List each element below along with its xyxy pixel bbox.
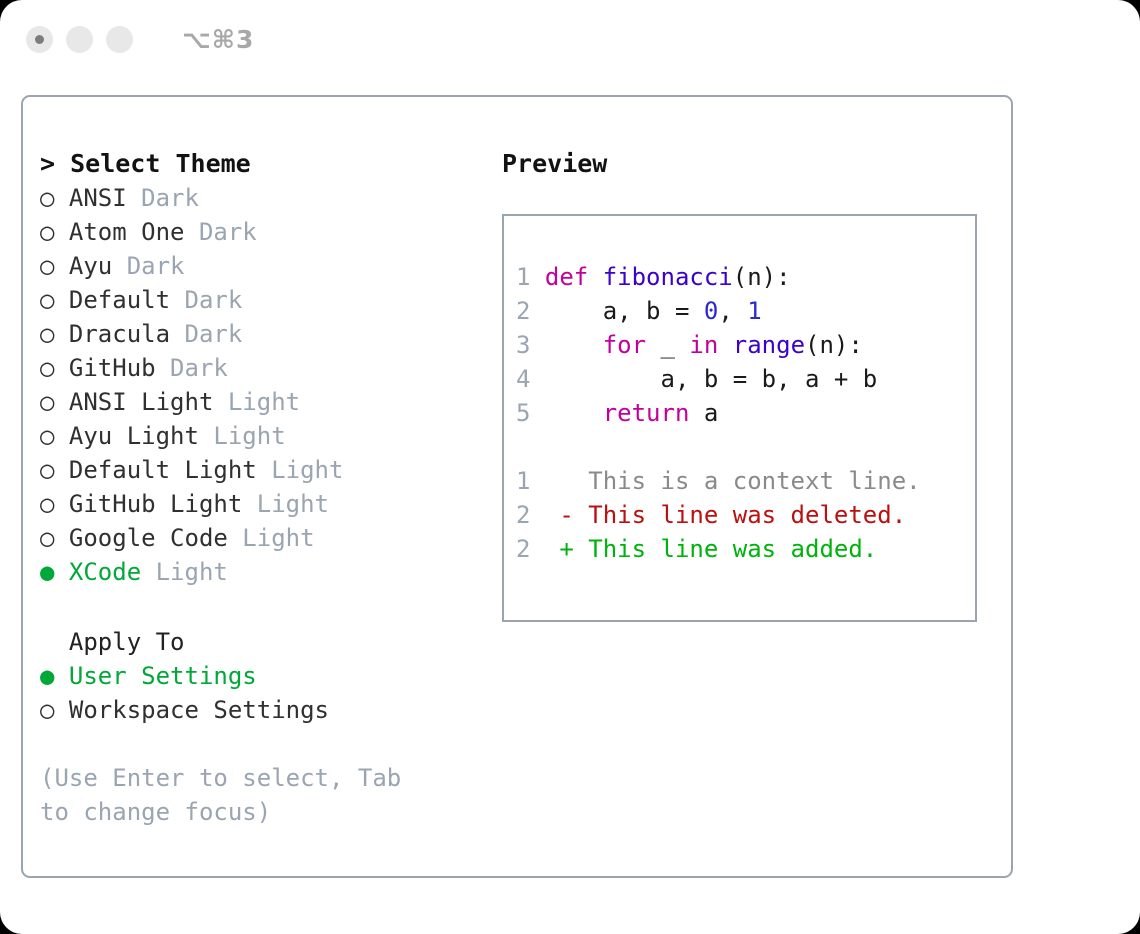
spacer	[516, 430, 975, 464]
theme-name-label: ANSI	[54, 184, 141, 212]
preview-column: Preview 1 def fibonacci(n):2 a, b = 0, 1…	[502, 147, 992, 622]
code-sample: 1 def fibonacci(n):2 a, b = 0, 13 for _ …	[516, 260, 975, 430]
radio-unselected-icon[interactable]: ○	[40, 320, 54, 348]
code-line: 1 def fibonacci(n):	[516, 260, 975, 294]
theme-category-label: Dark	[141, 184, 199, 212]
code-line: 4 a, b = b, a + b	[516, 362, 975, 396]
code-token: for	[603, 331, 646, 359]
theme-category-label: Light	[242, 524, 314, 552]
radio-unselected-icon[interactable]: ○	[40, 184, 54, 212]
theme-category-label: Dark	[185, 286, 243, 314]
theme-category-label: Light	[213, 422, 285, 450]
theme-category-label: Light	[228, 388, 300, 416]
theme-list[interactable]: ○ ANSI Dark○ Atom One Dark○ Ayu Dark○ De…	[40, 181, 480, 589]
panel-columns: > Select Theme ○ ANSI Dark○ Atom One Dar…	[23, 97, 1011, 876]
radio-unselected-icon[interactable]: ○	[40, 696, 54, 724]
theme-list-item[interactable]: ○ Atom One Dark	[40, 215, 480, 249]
apply-to-label: User Settings	[54, 662, 256, 690]
theme-name-label: Default Light	[54, 456, 271, 484]
theme-list-item[interactable]: ○ ANSI Light Light	[40, 385, 480, 419]
code-token: return	[603, 399, 690, 427]
window-maximize-button[interactable]	[106, 26, 133, 53]
code-token: 0	[704, 297, 718, 325]
radio-selected-icon[interactable]: ●	[40, 558, 54, 586]
apply-to-option[interactable]: ○ Workspace Settings	[40, 693, 480, 727]
radio-unselected-icon[interactable]: ○	[40, 218, 54, 246]
theme-list-item[interactable]: ○ GitHub Light Light	[40, 487, 480, 521]
code-token	[718, 331, 732, 359]
code-token	[545, 331, 603, 359]
line-number: 1	[516, 467, 559, 495]
diff-text: + This line was added.	[559, 535, 877, 563]
code-token	[545, 399, 603, 427]
app-window: ⌥⌘3 > Select Theme ○ ANSI Dark○ Atom One…	[0, 0, 1140, 934]
window-titlebar: ⌥⌘3	[0, 0, 1140, 78]
theme-list-item[interactable]: ○ ANSI Dark	[40, 181, 480, 215]
theme-category-label: Dark	[127, 252, 185, 280]
radio-unselected-icon[interactable]: ○	[40, 490, 54, 518]
theme-name-label: Atom One	[54, 218, 199, 246]
keyboard-hint-text: (Use Enter to select, Tab to change focu…	[40, 761, 440, 829]
theme-category-label: Light	[271, 456, 343, 484]
code-token: 1	[747, 297, 761, 325]
theme-category-label: Dark	[170, 354, 228, 382]
theme-list-item[interactable]: ○ Dracula Dark	[40, 317, 480, 351]
theme-name-label: Ayu	[54, 252, 126, 280]
theme-list-item[interactable]: ○ Google Code Light	[40, 521, 480, 555]
theme-name-label: GitHub Light	[54, 490, 256, 518]
code-token: a	[689, 399, 718, 427]
code-token: _	[646, 331, 689, 359]
theme-list-item[interactable]: ○ Ayu Light Light	[40, 419, 480, 453]
apply-to-section: Apply To ● User Settings○ Workspace Sett…	[40, 625, 480, 727]
theme-name-label: GitHub	[54, 354, 170, 382]
theme-name-label: Google Code	[54, 524, 242, 552]
code-line: 2 a, b = 0, 1	[516, 294, 975, 328]
theme-name-label: Default	[54, 286, 184, 314]
theme-category-label: Dark	[185, 320, 243, 348]
theme-list-item[interactable]: ○ GitHub Dark	[40, 351, 480, 385]
diff-line: 1 This is a context line.	[516, 464, 975, 498]
line-number: 3	[516, 331, 545, 359]
code-token: (n):	[733, 263, 791, 291]
line-number: 2	[516, 297, 545, 325]
select-theme-heading: > Select Theme	[40, 147, 480, 181]
radio-unselected-icon[interactable]: ○	[40, 456, 54, 484]
code-token: def	[545, 263, 603, 291]
theme-name-label: Ayu Light	[54, 422, 213, 450]
theme-list-item[interactable]: ○ Default Dark	[40, 283, 480, 317]
radio-selected-icon[interactable]: ●	[40, 662, 54, 690]
apply-to-list[interactable]: ● User Settings○ Workspace Settings	[40, 659, 480, 727]
line-number: 5	[516, 399, 545, 427]
radio-unselected-icon[interactable]: ○	[40, 252, 54, 280]
theme-selection-column: > Select Theme ○ ANSI Dark○ Atom One Dar…	[40, 147, 480, 829]
code-token: a, b =	[545, 297, 704, 325]
diff-line: 2 + This line was added.	[516, 532, 975, 566]
theme-name-label: Dracula	[54, 320, 184, 348]
code-token: ,	[718, 297, 747, 325]
code-token: fibonacci	[603, 263, 733, 291]
radio-unselected-icon[interactable]: ○	[40, 524, 54, 552]
window-close-button[interactable]	[26, 26, 53, 53]
line-number: 2	[516, 501, 559, 529]
apply-to-heading: Apply To	[40, 625, 480, 659]
theme-list-item[interactable]: ● XCode Light	[40, 555, 480, 589]
line-number: 2	[516, 535, 559, 563]
radio-unselected-icon[interactable]: ○	[40, 388, 54, 416]
theme-list-item[interactable]: ○ Ayu Dark	[40, 249, 480, 283]
theme-name-label: XCode	[54, 558, 155, 586]
code-line: 5 return a	[516, 396, 975, 430]
active-indicator-dot	[35, 35, 44, 44]
window-minimize-button[interactable]	[66, 26, 93, 53]
code-token: (n):	[805, 331, 863, 359]
line-number: 1	[516, 263, 545, 291]
code-token: range	[733, 331, 805, 359]
keyboard-shortcut-label: ⌥⌘3	[182, 25, 254, 54]
code-token: a, b = b, a + b	[545, 365, 877, 393]
code-line: 3 for _ in range(n):	[516, 328, 975, 362]
diff-line: 2 - This line was deleted.	[516, 498, 975, 532]
preview-box: 1 def fibonacci(n):2 a, b = 0, 13 for _ …	[502, 214, 977, 622]
line-number: 4	[516, 365, 545, 393]
diff-sample: 1 This is a context line.2 - This line w…	[516, 464, 975, 566]
code-token: in	[689, 331, 718, 359]
diff-text: - This line was deleted.	[559, 501, 906, 529]
radio-unselected-icon[interactable]: ○	[40, 422, 54, 450]
radio-unselected-icon[interactable]: ○	[40, 286, 54, 314]
theme-category-label: Light	[156, 558, 228, 586]
theme-list-item[interactable]: ○ Default Light Light	[40, 453, 480, 487]
theme-category-label: Dark	[199, 218, 257, 246]
radio-unselected-icon[interactable]: ○	[40, 354, 54, 382]
theme-category-label: Light	[257, 490, 329, 518]
preview-heading: Preview	[502, 147, 992, 181]
theme-name-label: ANSI Light	[54, 388, 227, 416]
apply-to-option[interactable]: ● User Settings	[40, 659, 480, 693]
main-panel: > Select Theme ○ ANSI Dark○ Atom One Dar…	[21, 95, 1013, 878]
diff-text: This is a context line.	[559, 467, 920, 495]
apply-to-label: Workspace Settings	[54, 696, 329, 724]
